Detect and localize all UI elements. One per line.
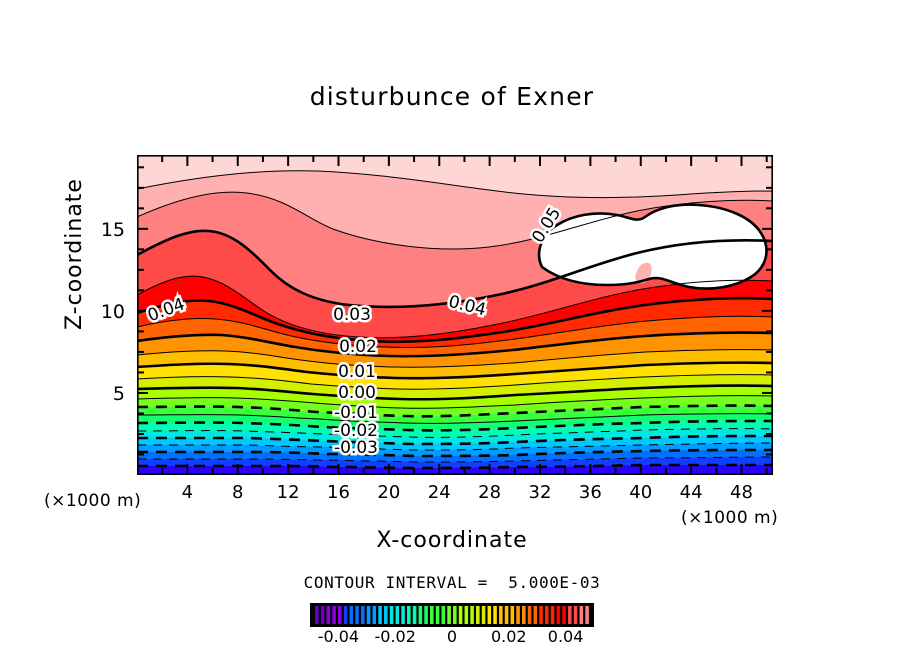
colorbar-swatch [551,606,555,624]
colorbar-swatch [453,606,457,624]
x-tick-label: 44 [680,482,703,503]
contour-label: 0.04 [145,294,187,326]
x-tick-label: 28 [478,482,501,503]
contour-label: 0.05 [528,204,565,247]
axes-overlay: 4812162024283236404448 51015 0.040.040.0… [0,0,904,654]
colorbar-swatch [568,606,572,624]
colorbar-swatch [413,606,417,624]
colorbar-swatch [447,606,451,624]
colorbar-swatch [350,606,354,624]
colorbar-swatch [493,606,497,624]
colorbar-swatch [562,606,566,624]
y-tick-label: 5 [113,383,125,405]
colorbar-swatch [528,606,532,624]
colorbar-swatch [407,606,411,624]
colorbar-swatch [459,606,463,624]
colorbar-swatch [580,606,584,624]
colorbar-swatch [378,606,382,624]
contour-labels: 0.040.040.040.040.050.050.030.030.020.02… [145,204,565,458]
contour-label: 0.02 [339,337,377,357]
colorbar-swatch [436,606,440,624]
colorbar-swatch [476,606,480,624]
colorbar-swatch [396,606,400,624]
colorbar-swatch [390,606,394,624]
colorbar-tick-label: -0.04 [318,628,359,646]
colorbar-swatch [315,606,319,624]
colorbar-swatch [424,606,428,624]
colorbar-swatch [482,606,486,624]
x-tick-label: 36 [579,482,602,503]
colorbar-swatch [344,606,348,624]
colorbar-swatch [361,606,365,624]
contour-label: -0.03 [334,438,378,458]
contour-label: -0.01 [334,403,378,423]
colorbar-tick-label: 0 [447,628,457,646]
colorbar-swatch [321,606,325,624]
colorbar-tick-label: 0.02 [491,628,527,646]
contour-label: 0.00 [338,383,376,403]
x-tick-label: 20 [377,482,400,503]
colorbar-tick-label: -0.02 [374,628,415,646]
x-tick-label: 40 [629,482,652,503]
colorbar-swatch [442,606,446,624]
contour-label: 0.04 [446,292,488,321]
colorbar-swatch [470,606,474,624]
colorbar-tick-label: 0.04 [548,628,584,646]
colorbar-swatch [557,606,561,624]
colorbar-swatch [539,606,543,624]
colorbar-swatch [545,606,549,624]
colorbar-swatch [384,606,388,624]
colorbar-swatch [401,606,405,624]
y-tick-label: 10 [101,301,125,323]
colorbar-swatch [516,606,520,624]
colorbar-swatch [332,606,336,624]
x-tick-label: 16 [327,482,350,503]
colorbar-swatch [373,606,377,624]
colorbar [310,603,594,627]
colorbar-swatch [505,606,509,624]
colorbar-swatch [511,606,515,624]
colorbar-swatch [355,606,359,624]
colorbar-swatch [338,606,342,624]
y-tick-label: 15 [101,219,125,241]
colorbar-swatch [465,606,469,624]
colorbar-swatch [574,606,578,624]
colorbar-swatch [367,606,371,624]
contour-label: 0.03 [333,305,371,325]
x-tick-label: 24 [428,482,451,503]
colorbar-swatch [430,606,434,624]
colorbar-swatch [499,606,503,624]
x-tick-label: 4 [182,482,193,503]
colorbar-swatch [419,606,423,624]
contour-plot-figure: disturbunce of Exner Z-coordinate X-coor… [0,0,904,654]
x-tick-label: 8 [232,482,243,503]
colorbar-swatch [534,606,538,624]
colorbar-swatch [585,606,589,624]
contour-interval-caption: CONTOUR INTERVAL = 5.000E-03 [0,573,904,592]
x-tick-label: 32 [529,482,552,503]
contour-label: 0.01 [338,362,376,382]
x-tick-label: 48 [730,482,753,503]
colorbar-swatch [522,606,526,624]
colorbar-swatch [327,606,331,624]
axis-ticks [137,155,773,475]
x-tick-label: 12 [277,482,300,503]
colorbar-swatch [488,606,492,624]
